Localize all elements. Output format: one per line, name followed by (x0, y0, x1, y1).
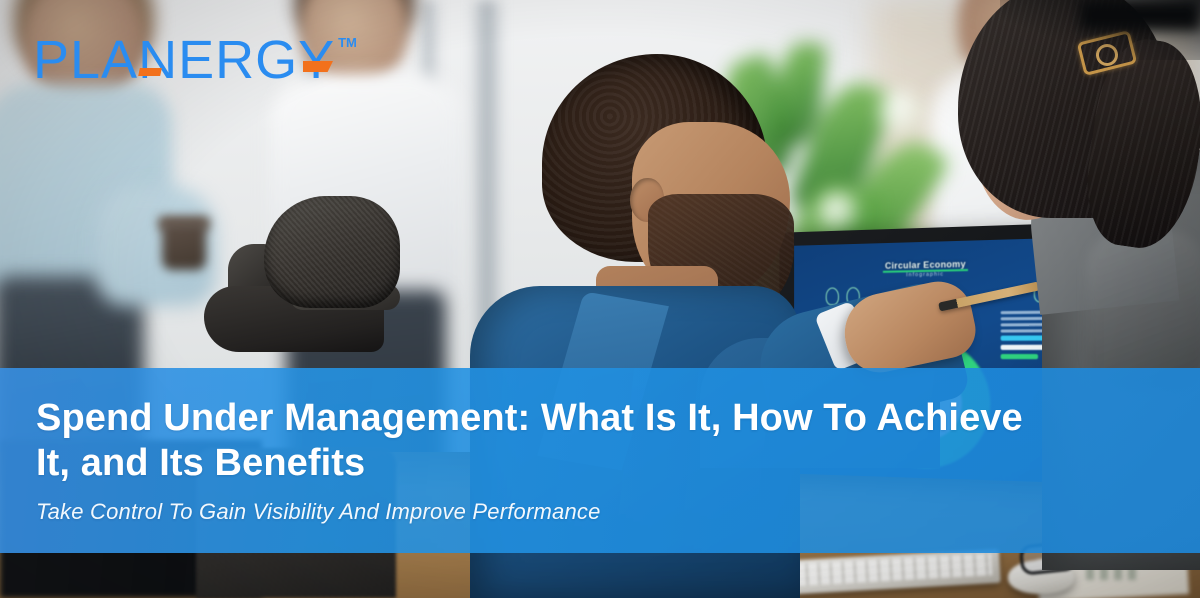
woman-blazer-fold (1086, 230, 1200, 390)
chair-armrest-pad (264, 196, 400, 308)
title-banner: Spend Under Management: What Is It, How … (0, 368, 1200, 553)
banner-content: Spend Under Management: What Is It, How … (36, 368, 1164, 553)
page-title: Spend Under Management: What Is It, How … (36, 396, 1036, 484)
infographic-bar (1001, 354, 1038, 359)
logo-wordmark: PLANERGY (33, 33, 335, 87)
coffee-cup (162, 222, 206, 270)
logo-trademark-symbol: TM (338, 35, 357, 50)
bokeh-highlight (878, 90, 922, 134)
infographic-leaf-icon (826, 287, 839, 305)
logo-accent-a-icon (138, 68, 162, 76)
hero-banner-image: Circular Economy Infographic (0, 0, 1200, 598)
corner-shadow (1080, 0, 1200, 30)
bokeh-highlight (818, 192, 858, 232)
planergy-logo[interactable]: PLANERGY TM (33, 33, 357, 87)
page-subtitle: Take Control To Gain Visibility And Impr… (36, 499, 1164, 525)
